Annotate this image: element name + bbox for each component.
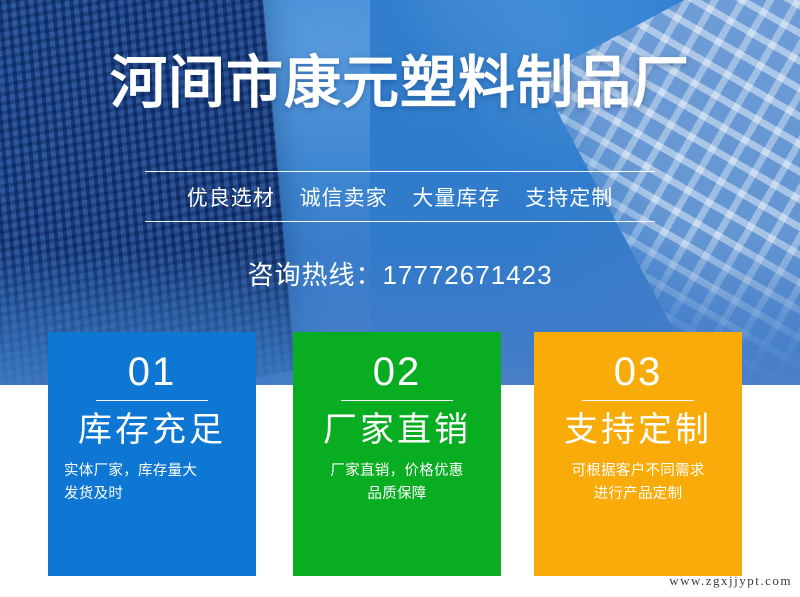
card-title: 支持定制: [534, 409, 742, 452]
feature-card-02: 02 厂家直销 厂家直销，价格优惠 品质保障: [293, 332, 501, 576]
card-description: 厂家直销，价格优惠 品质保障: [293, 460, 501, 508]
card-description-line-2: 进行产品定制: [546, 483, 730, 507]
card-divider: [96, 400, 208, 401]
site-watermark: www.zgxjjypt.com: [669, 573, 792, 589]
card-divider: [341, 400, 453, 401]
card-description-line-1: 可根据客户不同需求: [546, 460, 730, 484]
card-description-line-1: 厂家直销，价格优惠: [305, 460, 489, 484]
card-description: 可根据客户不同需求 进行产品定制: [534, 460, 742, 508]
promotional-banner: 河间市康元塑料制品厂 优良选材 诚信卖家 大量库存 支持定制 咨询热线：1777…: [0, 0, 800, 597]
feature-card-01: 01 库存充足 实体厂家，库存量大 发货及时: [48, 332, 256, 576]
card-title: 厂家直销: [293, 409, 501, 452]
card-divider: [582, 400, 694, 401]
card-number: 01: [48, 352, 256, 400]
card-number: 02: [293, 352, 501, 400]
card-number: 03: [534, 352, 742, 400]
card-description-line-2: 发货及时: [64, 483, 244, 507]
feature-card-03: 03 支持定制 可根据客户不同需求 进行产品定制: [534, 332, 742, 576]
card-description-line-2: 品质保障: [305, 483, 489, 507]
feature-cards: 01 库存充足 实体厂家，库存量大 发货及时 02 厂家直销 厂家直销，价格优惠…: [0, 0, 800, 597]
card-description-line-1: 实体厂家，库存量大: [64, 460, 244, 484]
card-description: 实体厂家，库存量大 发货及时: [48, 460, 256, 508]
card-title: 库存充足: [48, 409, 256, 452]
